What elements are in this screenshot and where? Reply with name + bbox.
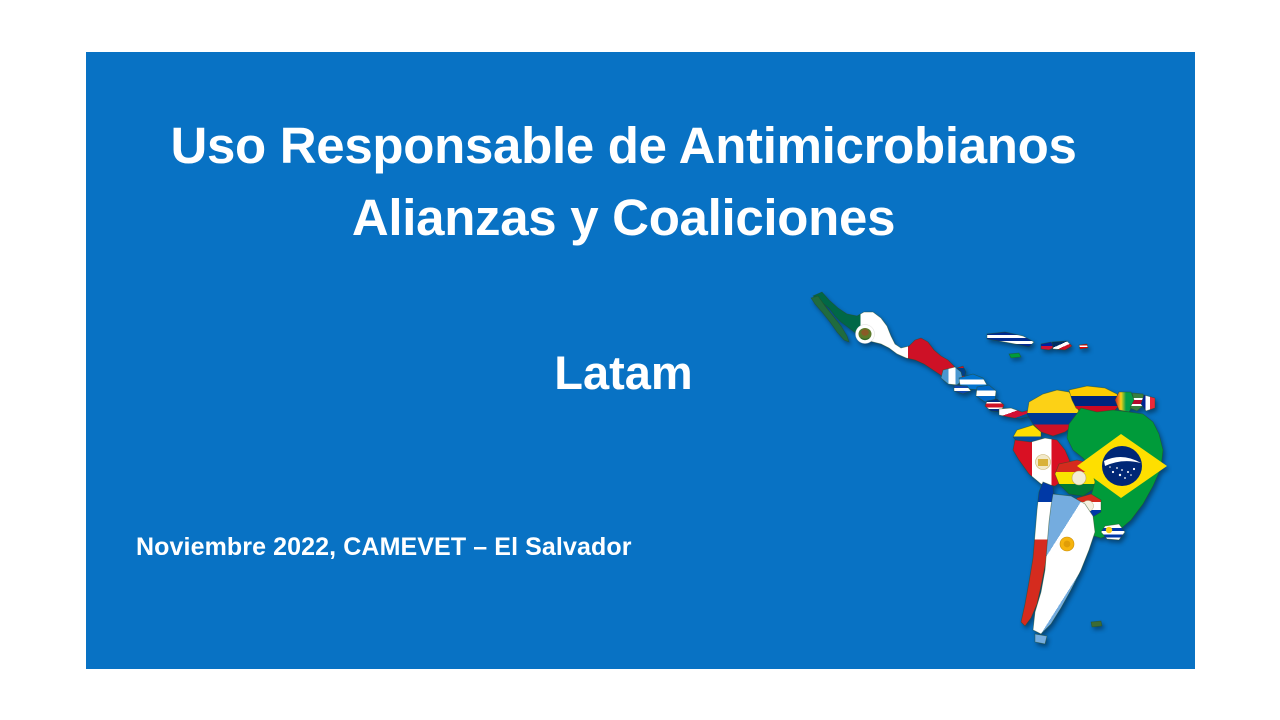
title-line-2: Alianzas y Coaliciones: [86, 182, 1161, 254]
country-tierra-del-fuego: [1035, 634, 1047, 644]
page-title: Uso Responsable de Antimicrobianos Alian…: [86, 110, 1161, 254]
country-french-guiana: [1141, 395, 1155, 411]
slide-content-panel: Uso Responsable de Antimicrobianos Alian…: [86, 52, 1195, 669]
latam-map-svg: [791, 282, 1186, 669]
footer-event-line: Noviembre 2022, CAMEVET – El Salvador: [136, 530, 632, 564]
country-panama: [999, 408, 1031, 419]
country-cuba: [987, 332, 1034, 347]
country-mexico: [811, 292, 957, 378]
country-jamaica: [1009, 353, 1021, 358]
uruguay-sun-icon: [1106, 527, 1112, 533]
brazil-flag-globe: [1102, 446, 1142, 486]
latam-flag-map-image: [791, 282, 1186, 669]
bolivia-emblem-icon: [1072, 471, 1086, 485]
islands-falklands: [1091, 621, 1102, 627]
title-line-1: Uso Responsable de Antimicrobianos: [86, 110, 1161, 182]
country-puerto-rico: [1079, 344, 1088, 349]
country-dominican-republic: [1052, 341, 1072, 350]
slide-canvas: Uso Responsable de Antimicrobianos Alian…: [0, 0, 1280, 720]
